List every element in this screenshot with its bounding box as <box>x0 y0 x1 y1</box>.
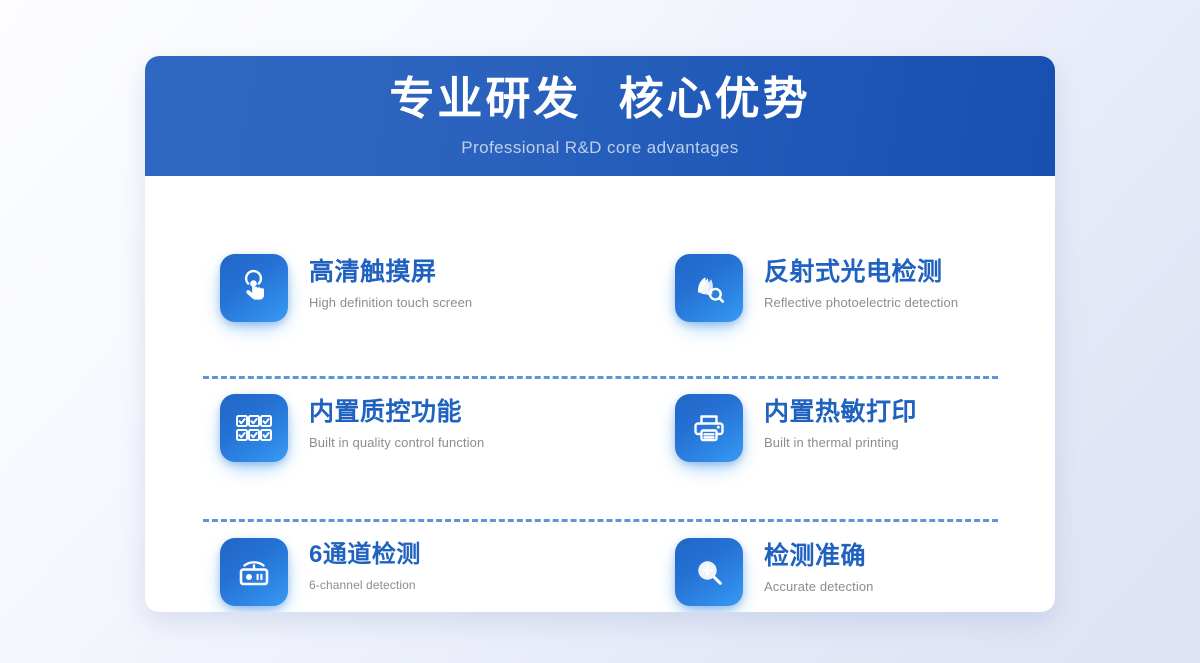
feature-title: 反射式光电检测 <box>764 258 958 286</box>
feature-item-quality-control[interactable]: 内置质控功能 Built in quality control function <box>220 394 484 462</box>
feature-subtitle: Built in quality control function <box>309 435 484 450</box>
icon-container <box>675 538 743 606</box>
feature-text: 反射式光电检测 Reflective photoelectric detecti… <box>764 254 958 310</box>
page-title: 专业研发 核心优势 <box>145 73 1055 125</box>
feature-title: 6通道检测 <box>309 542 421 569</box>
icon-container <box>220 394 288 462</box>
printer-icon <box>675 394 743 462</box>
feature-item-touch-screen[interactable]: 高清触摸屏 High definition touch screen <box>220 254 472 322</box>
feature-subtitle: 6-channel detection <box>309 578 421 592</box>
feature-text: 检测准确 Accurate detection <box>764 538 873 594</box>
feature-item-thermal-printing[interactable]: 内置热敏打印 Built in thermal printing <box>675 394 917 462</box>
magnifier-plus-icon <box>675 538 743 606</box>
feature-subtitle: Reflective photoelectric detection <box>764 295 958 310</box>
feature-title: 检测准确 <box>764 542 873 570</box>
icon-container <box>220 538 288 606</box>
feature-text: 内置热敏打印 Built in thermal printing <box>764 394 917 450</box>
feature-text: 高清触摸屏 High definition touch screen <box>309 254 472 310</box>
page-stage: 专业研发 核心优势 Professional R&D core advantag… <box>0 0 1200 663</box>
row-divider-1 <box>203 376 998 379</box>
touch-screen-icon <box>220 254 288 322</box>
feature-title: 内置质控功能 <box>309 398 484 426</box>
feature-item-accurate-detection[interactable]: 检测准确 Accurate detection <box>675 538 873 606</box>
card-header: 专业研发 核心优势 Professional R&D core advantag… <box>145 56 1055 176</box>
page-subtitle: Professional R&D core advantages <box>145 138 1055 158</box>
advantages-card: 专业研发 核心优势 Professional R&D core advantag… <box>145 56 1055 612</box>
feature-subtitle: Built in thermal printing <box>764 435 917 450</box>
feature-item-reflective-photoelectric[interactable]: 反射式光电检测 Reflective photoelectric detecti… <box>675 254 958 322</box>
icon-container <box>220 254 288 322</box>
feature-title: 高清触摸屏 <box>309 258 472 286</box>
quality-control-grid-icon <box>220 394 288 462</box>
reflective-photoelectric-icon <box>675 254 743 322</box>
feature-title: 内置热敏打印 <box>764 398 917 426</box>
six-channel-device-icon <box>220 538 288 606</box>
row-divider-2 <box>203 519 998 522</box>
feature-text: 6通道检测 6-channel detection <box>309 538 421 592</box>
icon-container <box>675 254 743 322</box>
feature-text: 内置质控功能 Built in quality control function <box>309 394 484 450</box>
feature-grid: 高清触摸屏 High definition touch screen <box>145 176 1055 612</box>
feature-subtitle: Accurate detection <box>764 579 873 594</box>
icon-container <box>675 394 743 462</box>
feature-item-six-channel[interactable]: 6通道检测 6-channel detection <box>220 538 421 606</box>
feature-subtitle: High definition touch screen <box>309 295 472 310</box>
